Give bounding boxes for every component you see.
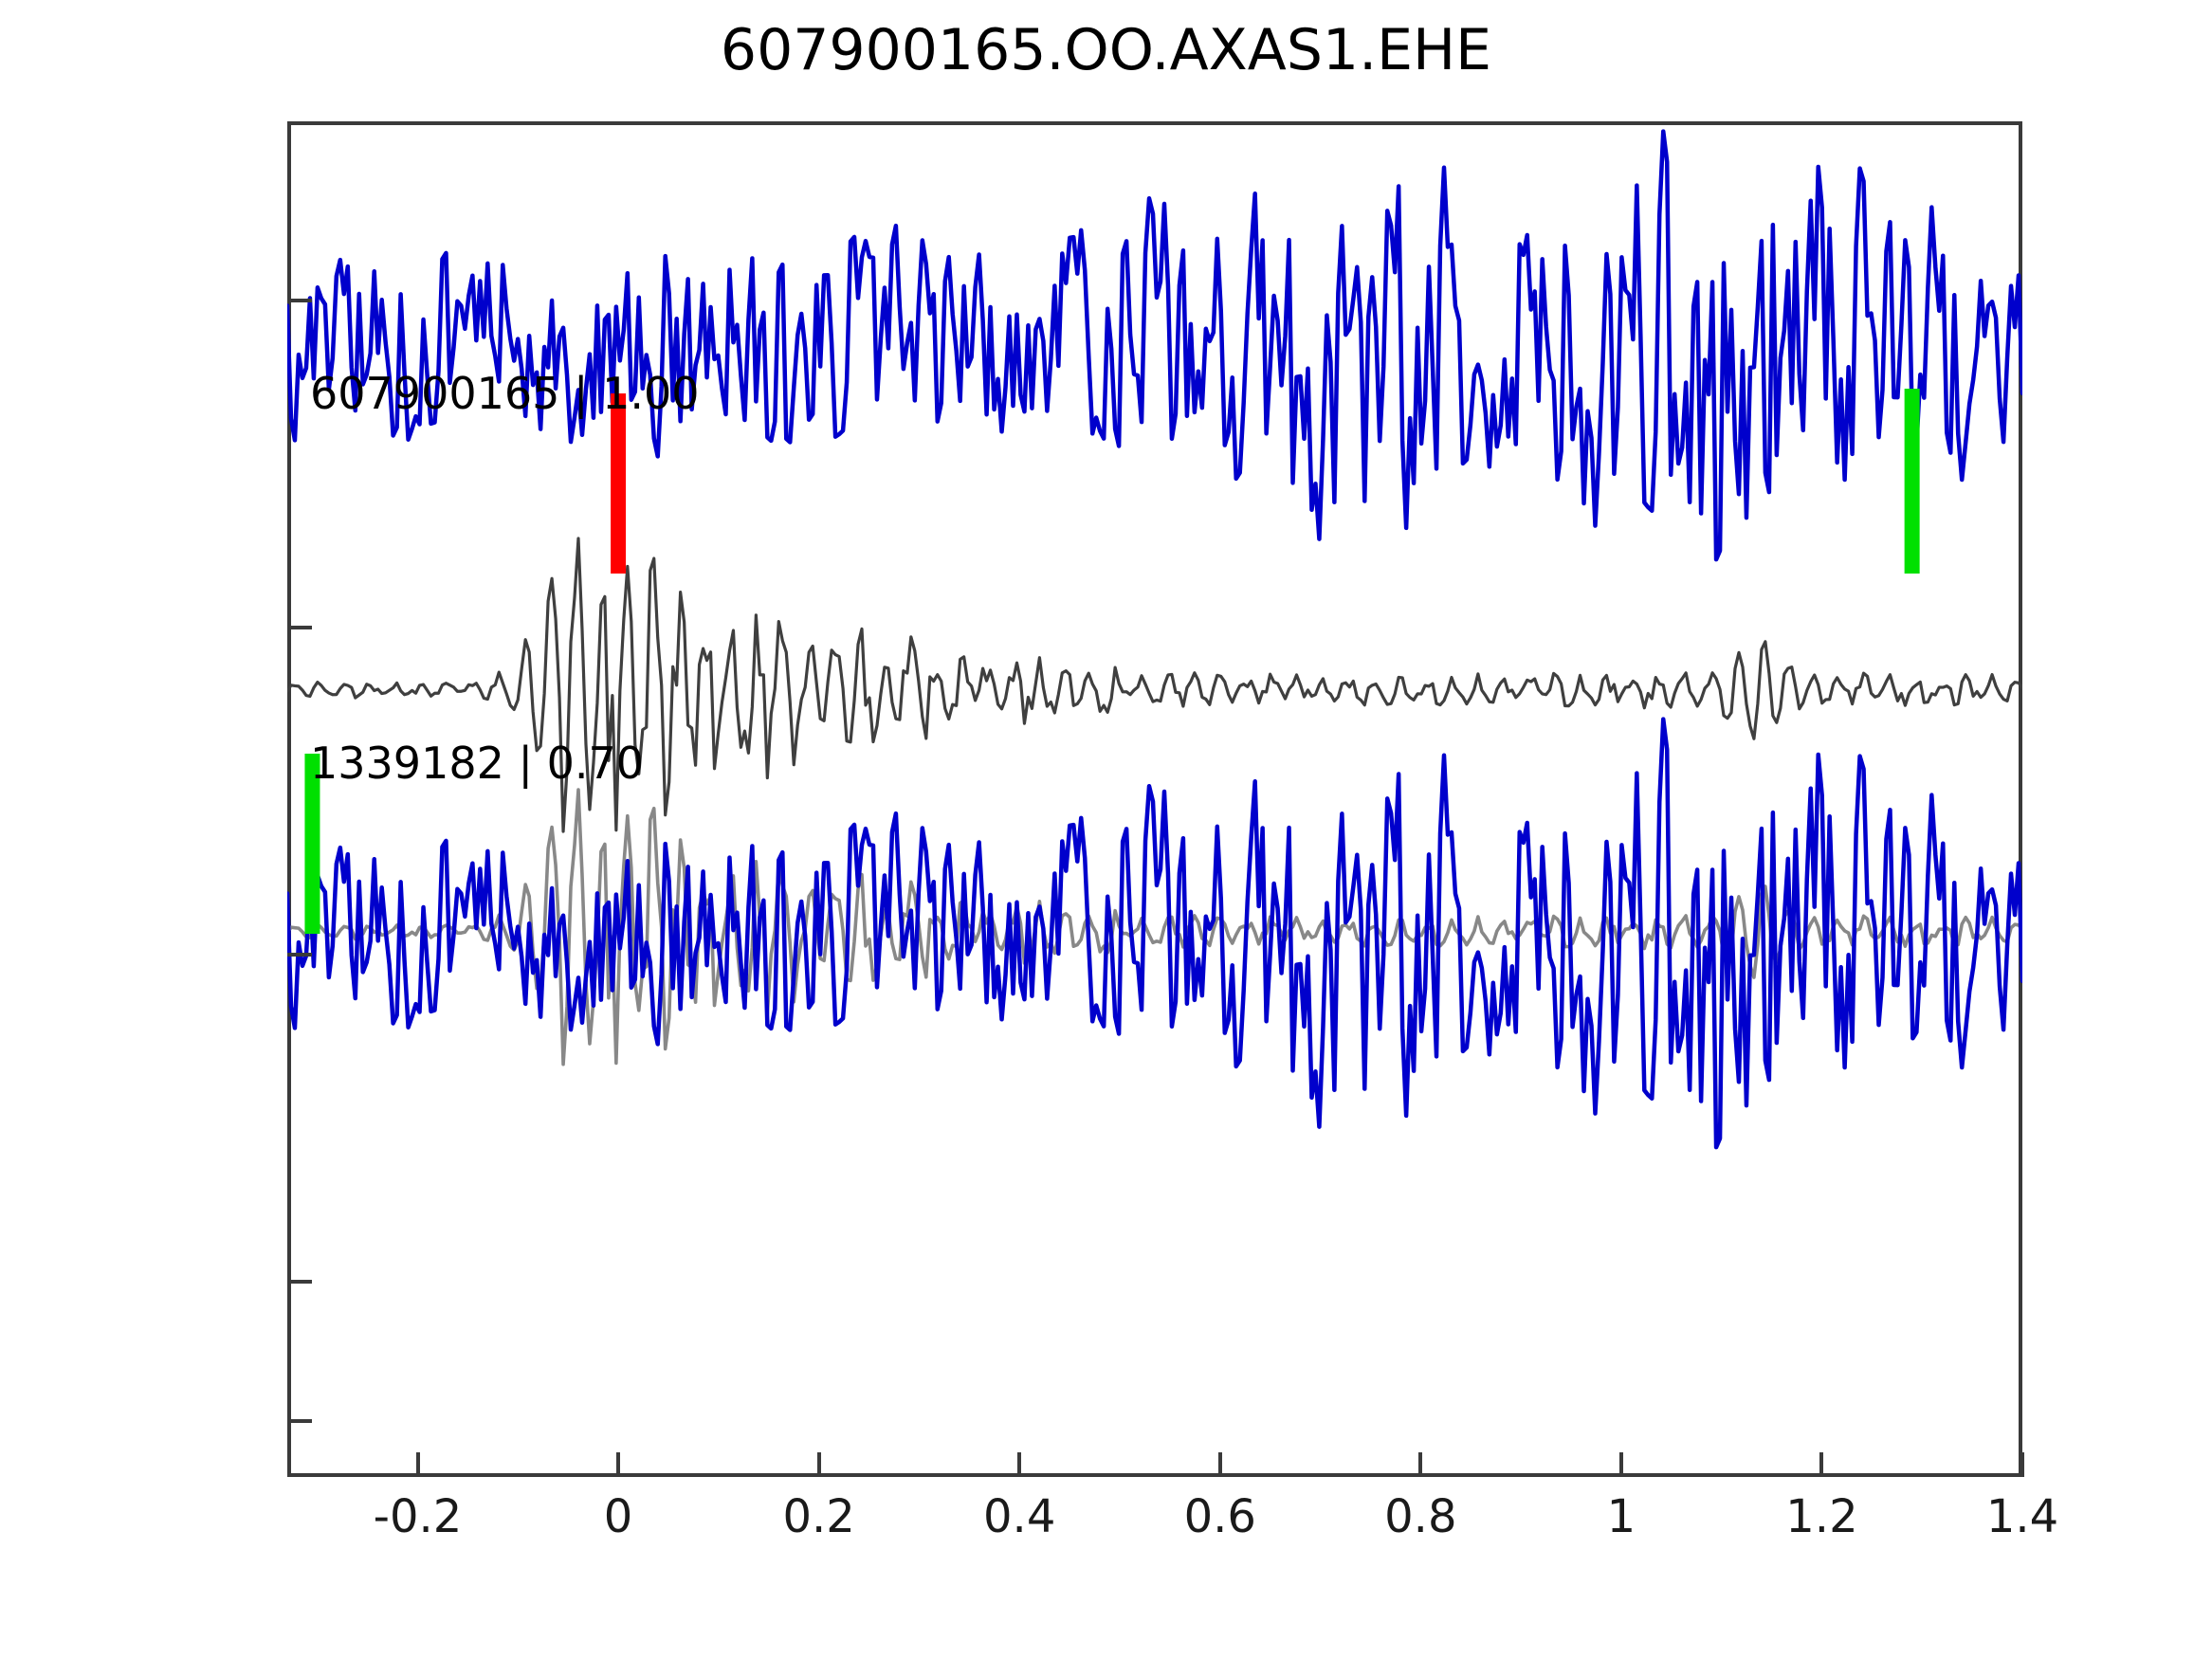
annotation-template-label: 1339182 | 0.70 (310, 738, 644, 789)
y-tick-3 (287, 1280, 312, 1284)
y-tick-0 (287, 299, 312, 302)
y-tick-1 (287, 626, 312, 629)
seismic-waveform-figure: 607900165.OO.AXAS1.EHE -0.200.20.40.60.8… (0, 0, 2212, 1659)
waveform-canvas (287, 121, 2022, 1477)
y-tick-4 (287, 1419, 312, 1423)
x-tick-7 (1819, 1452, 1823, 1477)
x-tick-label-3: 0.4 (943, 1490, 1095, 1543)
x-tick-label-8: 1.4 (1947, 1490, 2098, 1543)
x-tick-label-1: 0 (542, 1490, 694, 1543)
x-tick-label-7: 1.2 (1746, 1490, 1897, 1543)
x-tick-label-0: -0.2 (342, 1490, 494, 1543)
pick-marker-green-top[interactable] (1905, 389, 1920, 574)
x-tick-label-5: 0.8 (1344, 1490, 1496, 1543)
trace-target-top (287, 132, 2022, 560)
annotation-target-label: 607900165 | 1.00 (310, 368, 700, 419)
pick-marker-red[interactable] (611, 393, 626, 574)
x-tick-label-4: 0.6 (1144, 1490, 1296, 1543)
x-tick-4 (1218, 1452, 1222, 1477)
x-tick-label-6: 1 (1545, 1490, 1697, 1543)
x-tick-2 (817, 1452, 821, 1477)
x-tick-8 (2020, 1452, 2024, 1477)
y-tick-2 (287, 953, 312, 957)
x-tick-6 (1619, 1452, 1623, 1477)
x-tick-3 (1017, 1452, 1021, 1477)
page-title: 607900165.OO.AXAS1.EHE (0, 17, 2212, 83)
x-tick-1 (616, 1452, 620, 1477)
traces-group (287, 132, 2022, 1148)
x-tick-5 (1418, 1452, 1422, 1477)
x-tick-0 (416, 1452, 420, 1477)
x-tick-label-2: 0.2 (743, 1490, 895, 1543)
